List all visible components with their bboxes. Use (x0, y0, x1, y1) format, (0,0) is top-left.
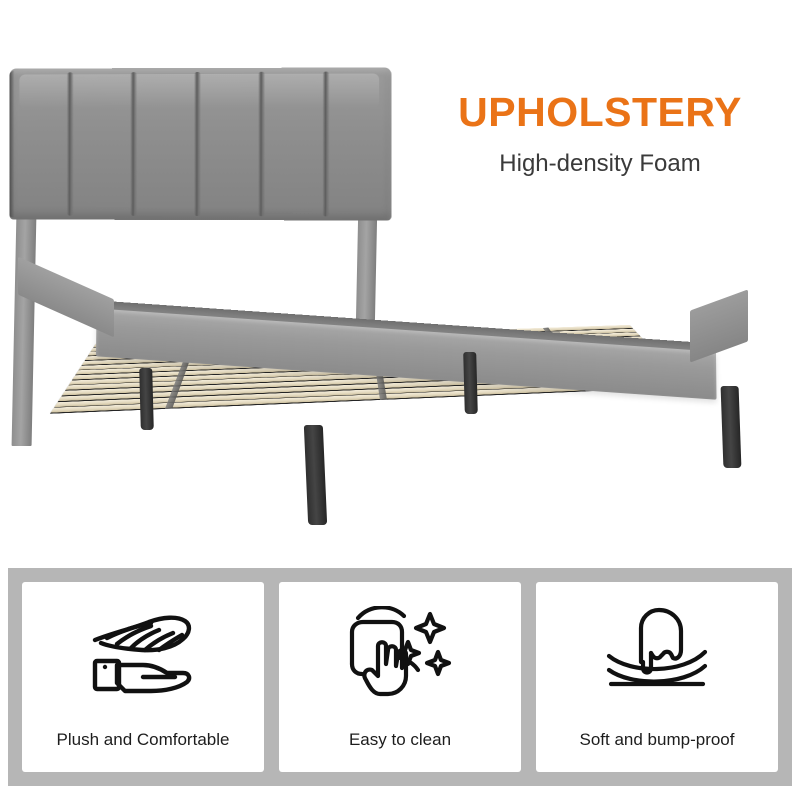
bed-leg-front-right (721, 386, 742, 468)
bed-leg-back-left (139, 368, 154, 430)
product-image-canvas: UPHOLSTERY High-density Foam (0, 0, 800, 800)
feature-strip: Plush and Comfortable Easy to cle (8, 568, 792, 786)
headboard-seam (130, 72, 137, 216)
feature-card-plush: Plush and Comfortable (22, 582, 264, 772)
finger-pressing-cushion-icon (601, 606, 713, 698)
headboard-seam (323, 72, 330, 217)
feature-label: Easy to clean (279, 730, 521, 750)
headboard-seam (67, 72, 74, 215)
feature-label: Soft and bump-proof (536, 730, 778, 750)
headboard-seam (258, 72, 265, 216)
frame-rail-right (690, 289, 748, 362)
hero-subheadline: High-density Foam (420, 150, 780, 179)
headboard-seam (194, 72, 201, 216)
feature-card-easy-clean: Easy to clean (279, 582, 521, 772)
feather-on-hand-icon (87, 606, 199, 698)
hero-headline: UPHOLSTERY (420, 92, 780, 133)
bed-leg-front-left (304, 425, 327, 525)
bed-product-photo (0, 0, 800, 548)
upholstered-headboard (10, 67, 392, 220)
feature-label: Plush and Comfortable (22, 730, 264, 750)
bed-leg-back-right (463, 352, 478, 414)
feature-card-bump-proof: Soft and bump-proof (536, 582, 778, 772)
hand-wiping-sparkle-icon (344, 606, 456, 698)
headboard-post-left (12, 214, 37, 446)
headboard-post-right (356, 210, 378, 330)
